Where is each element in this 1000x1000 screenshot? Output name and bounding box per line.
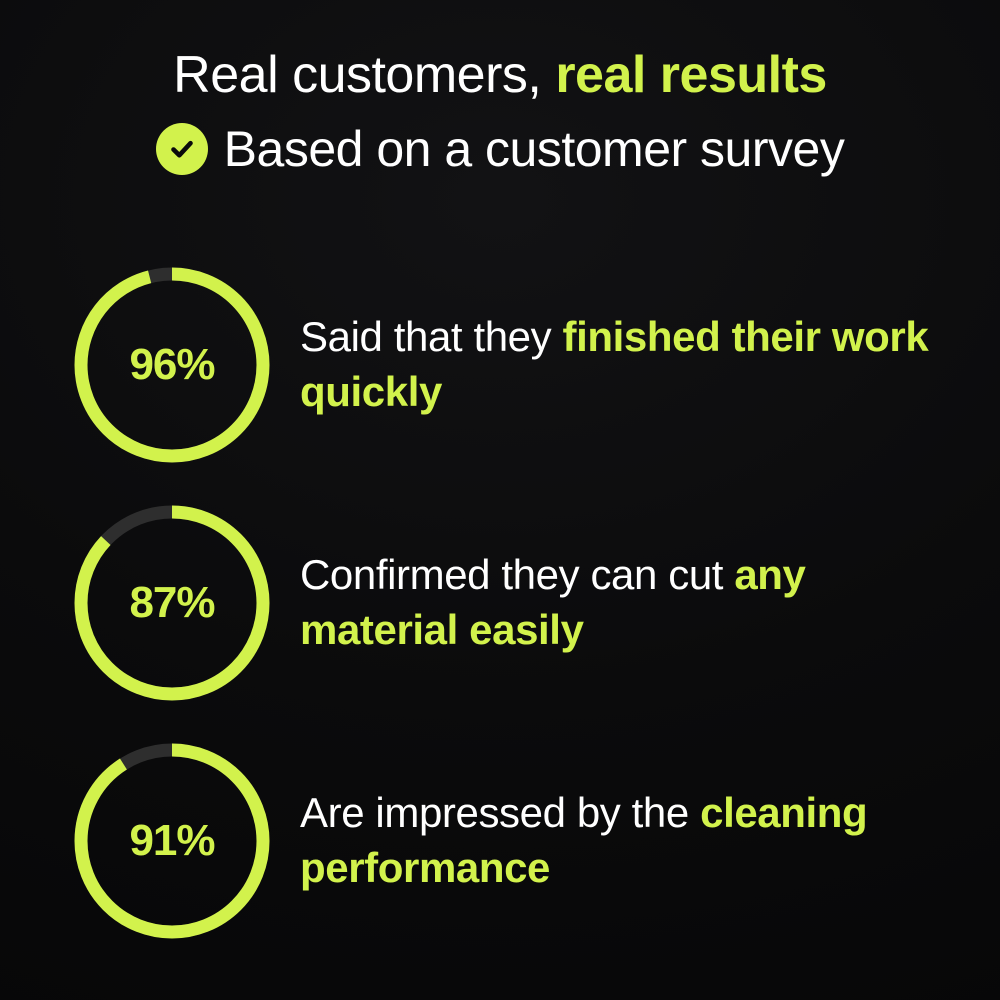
check-icon <box>156 123 208 175</box>
stat-description: Are impressed by the cleaning performanc… <box>300 786 940 895</box>
stat-row: 96% Said that they finished their work q… <box>0 262 1000 467</box>
stat-description: Said that they finished their work quick… <box>300 310 940 419</box>
headline-plain: Real customers, <box>173 46 555 104</box>
ring-percent-label: 87% <box>72 503 272 703</box>
stat-text-plain: Said that they <box>300 313 563 360</box>
ring-percent-label: 91% <box>72 741 272 941</box>
stat-row: 87% Confirmed they can cut any material … <box>0 500 1000 705</box>
stat-text-plain: Are impressed by the <box>300 789 700 836</box>
progress-ring-96: 96% <box>72 265 272 465</box>
stat-text-plain: Confirmed they can cut <box>300 551 734 598</box>
stats-list: 96% Said that they finished their work q… <box>0 262 1000 976</box>
headline-accent: real results <box>555 46 827 104</box>
page-title: Real customers, real results <box>0 48 1000 103</box>
header: Real customers, real results Based on a … <box>0 48 1000 176</box>
infographic-canvas: Real customers, real results Based on a … <box>0 0 1000 1000</box>
ring-percent-label: 96% <box>72 265 272 465</box>
stat-row: 91% Are impressed by the cleaning perfor… <box>0 738 1000 943</box>
progress-ring-91: 91% <box>72 741 272 941</box>
stat-description: Confirmed they can cut any material easi… <box>300 548 940 657</box>
progress-ring-87: 87% <box>72 503 272 703</box>
subline-row: Based on a customer survey <box>0 123 1000 176</box>
subline-label: Based on a customer survey <box>224 123 845 176</box>
